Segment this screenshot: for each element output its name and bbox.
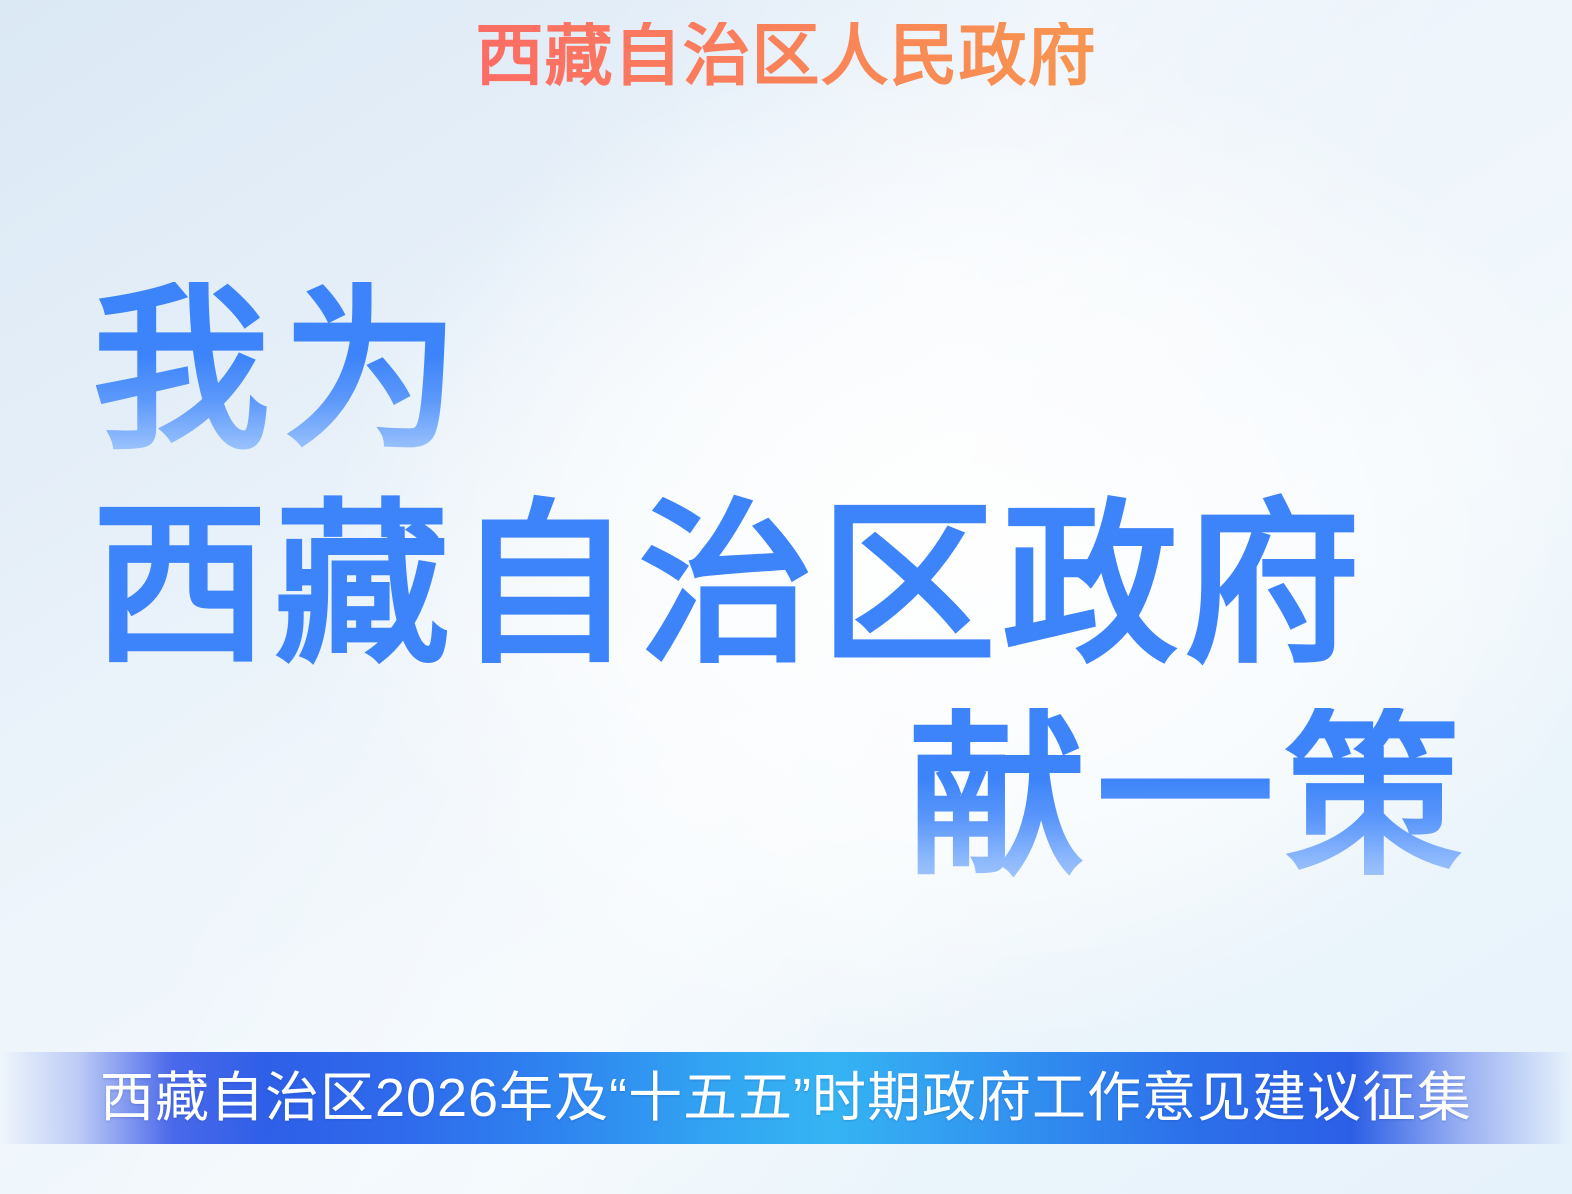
campaign-ribbon: 西藏自治区2026年及“十五五”时期政府工作意见建议征集 (0, 1052, 1572, 1144)
headline-line-3: 献一策 (92, 708, 1476, 886)
headline-line-1: 我为 (92, 282, 1476, 460)
campaign-ribbon-text: 西藏自治区2026年及“十五五”时期政府工作意见建议征集 (100, 1071, 1472, 1125)
poster-canvas: 西藏自治区人民政府 我为 西藏自治区政府 献一策 西藏自治区2026年及“十五五… (0, 0, 1572, 1194)
headline-line-2: 西藏自治区政府 (92, 498, 1476, 674)
headline-block: 我为 西藏自治区政府 献一策 (92, 282, 1476, 886)
organization-title: 西藏自治区人民政府 (0, 22, 1572, 90)
